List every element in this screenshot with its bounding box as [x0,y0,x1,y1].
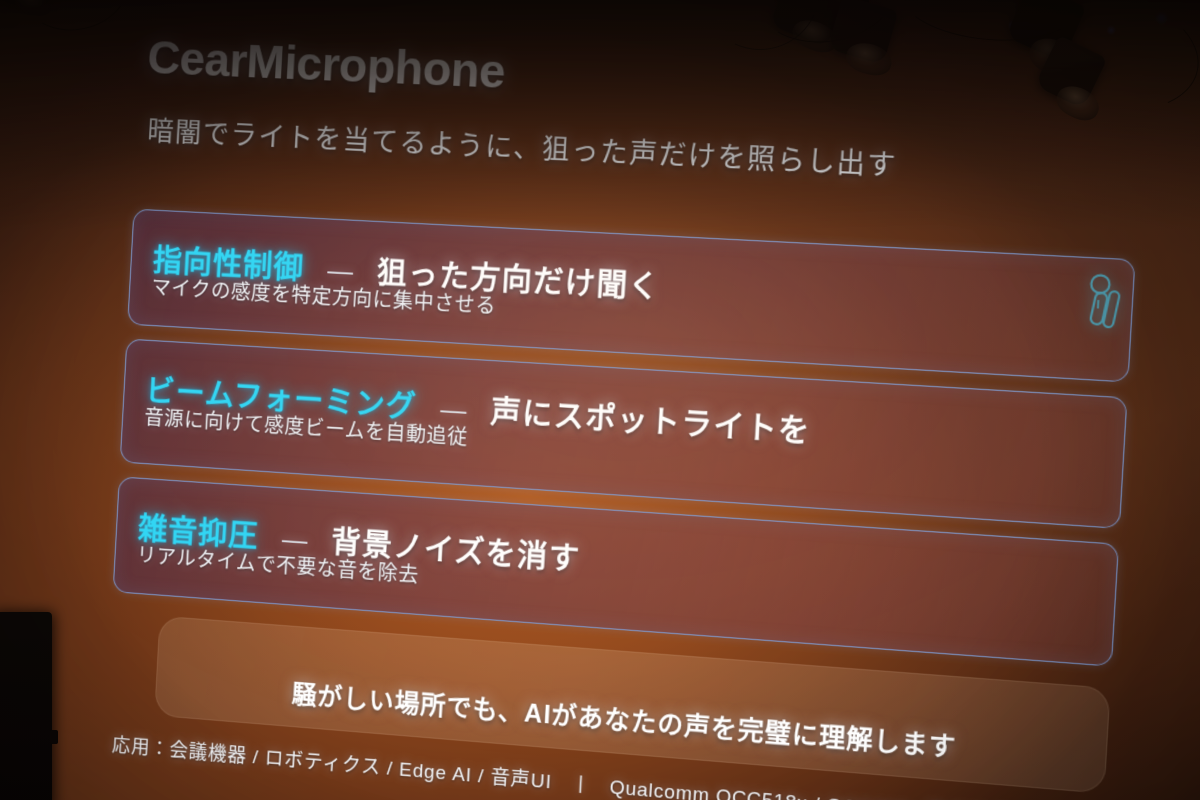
slide-subtitle: 暗闇でライトを当てるように、狙った声だけを照らし出す [147,109,899,183]
slide-surface: CearMicrophone 暗闇でライトを当てるように、狙った声だけを照らし出… [0,0,1200,800]
projected-slide-photo: CearMicrophone 暗闇でライトを当てるように、狙った声だけを照らし出… [0,0,1200,800]
page-title: CearMicrophone [146,29,506,99]
feature-phrase: 声にスポットライトを [490,386,812,451]
slide-content: CearMicrophone 暗闇でライトを当てるように、狙った声だけを照らし出… [90,8,1168,800]
footer-separator: | [578,772,584,795]
speaker-silhouette [0,612,52,800]
